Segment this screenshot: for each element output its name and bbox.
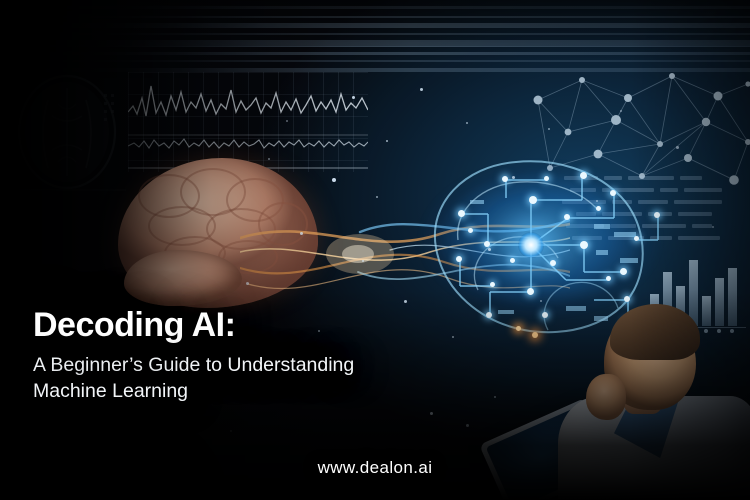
website-url[interactable]: www.dealon.ai bbox=[0, 458, 750, 478]
page-subtitle: A Beginner’s Guide to Understanding Mach… bbox=[33, 352, 453, 404]
ai-blog-banner: Decoding AI: A Beginner’s Guide to Under… bbox=[0, 0, 750, 500]
page-title: Decoding AI: bbox=[33, 306, 235, 345]
subtitle-line-1: A Beginner’s Guide to Understanding bbox=[33, 352, 453, 378]
subtitle-line-2: Machine Learning bbox=[33, 378, 453, 404]
